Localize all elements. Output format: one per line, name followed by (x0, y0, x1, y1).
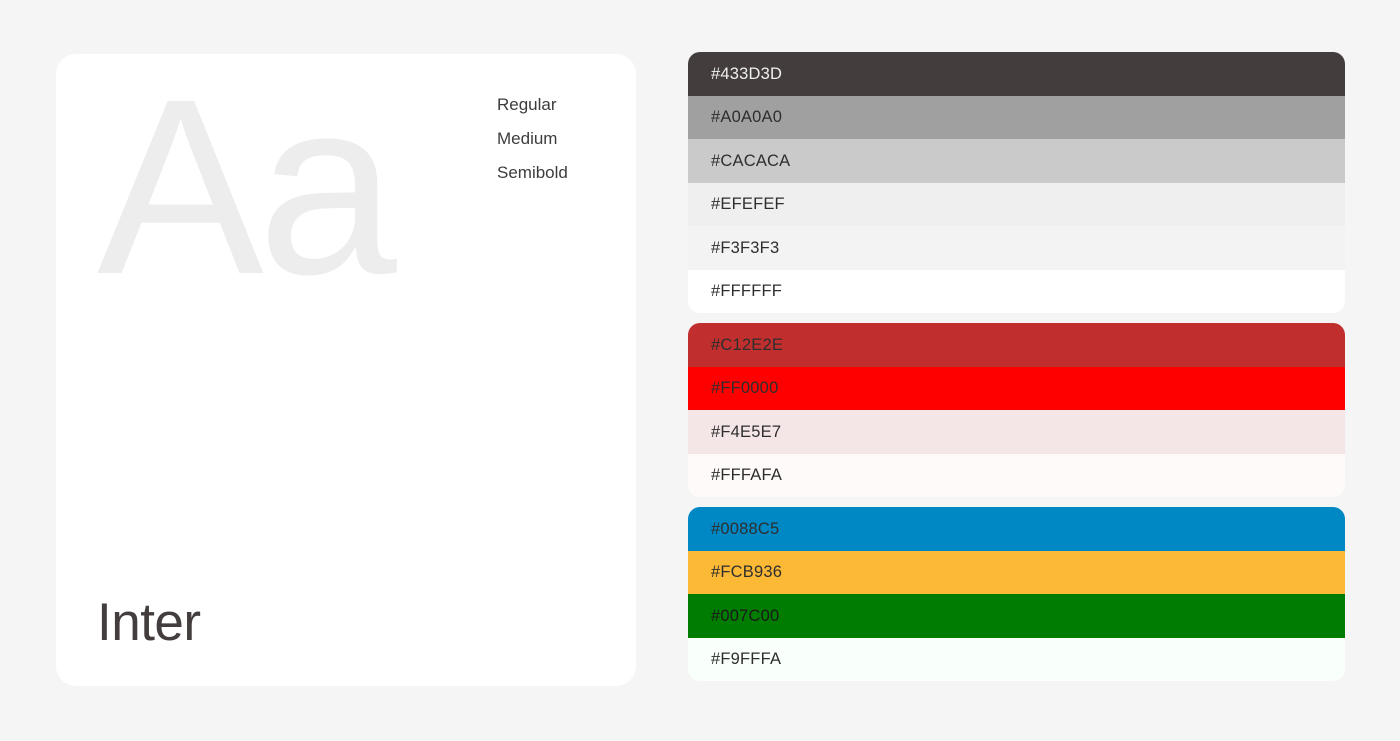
color-swatch[interactable]: #0088C5 (688, 507, 1345, 551)
color-swatch[interactable]: #FF0000 (688, 367, 1345, 411)
font-weight-medium[interactable]: Medium (497, 130, 568, 147)
font-family-name: Inter (97, 596, 201, 649)
font-weight-semibold[interactable]: Semibold (497, 164, 568, 181)
color-swatch[interactable]: #CACACA (688, 139, 1345, 183)
color-swatch-hex-label: #C12E2E (711, 337, 783, 354)
color-swatch[interactable]: #C12E2E (688, 323, 1345, 367)
color-swatch-hex-label: #A0A0A0 (711, 109, 782, 126)
color-swatch-hex-label: #F9FFFA (711, 651, 781, 668)
color-swatch[interactable]: #EFEFEF (688, 183, 1345, 227)
style-guide-page: Aa Regular Medium Semibold Inter #433D3D… (0, 0, 1400, 741)
color-swatch[interactable]: #007C00 (688, 594, 1345, 638)
color-swatch-hex-label: #EFEFEF (711, 196, 785, 213)
color-swatch-hex-label: #007C00 (711, 608, 779, 625)
color-swatch-hex-label: #FFFAFA (711, 467, 782, 484)
color-swatch[interactable]: #433D3D (688, 52, 1345, 96)
color-palette: #433D3D#A0A0A0#CACACA#EFEFEF#F3F3F3#FFFF… (688, 52, 1345, 681)
color-swatch-hex-label: #F4E5E7 (711, 424, 781, 441)
font-weight-list: Regular Medium Semibold (497, 96, 568, 181)
swatch-group-red: #C12E2E#FF0000#F4E5E7#FFFAFA (688, 323, 1345, 497)
font-weight-regular[interactable]: Regular (497, 96, 568, 113)
color-swatch-hex-label: #FCB936 (711, 564, 782, 581)
color-swatch-hex-label: #FFFFFF (711, 283, 782, 300)
color-swatch-hex-label: #0088C5 (711, 521, 779, 538)
color-swatch-hex-label: #433D3D (711, 66, 782, 83)
color-swatch[interactable]: #F4E5E7 (688, 410, 1345, 454)
color-swatch-hex-label: #FF0000 (711, 380, 778, 397)
color-swatch[interactable]: #F3F3F3 (688, 226, 1345, 270)
typography-card: Aa Regular Medium Semibold Inter (56, 54, 636, 686)
color-swatch[interactable]: #A0A0A0 (688, 96, 1345, 140)
swatch-group-neutral: #433D3D#A0A0A0#CACACA#EFEFEF#F3F3F3#FFFF… (688, 52, 1345, 313)
color-swatch-hex-label: #F3F3F3 (711, 240, 779, 257)
color-swatch[interactable]: #F9FFFA (688, 638, 1345, 682)
color-swatch[interactable]: #FFFAFA (688, 454, 1345, 498)
color-swatch[interactable]: #FFFFFF (688, 270, 1345, 314)
type-specimen-aa: Aa (97, 62, 391, 312)
color-swatch[interactable]: #FCB936 (688, 551, 1345, 595)
swatch-group-accent: #0088C5#FCB936#007C00#F9FFFA (688, 507, 1345, 681)
color-swatch-hex-label: #CACACA (711, 153, 790, 170)
